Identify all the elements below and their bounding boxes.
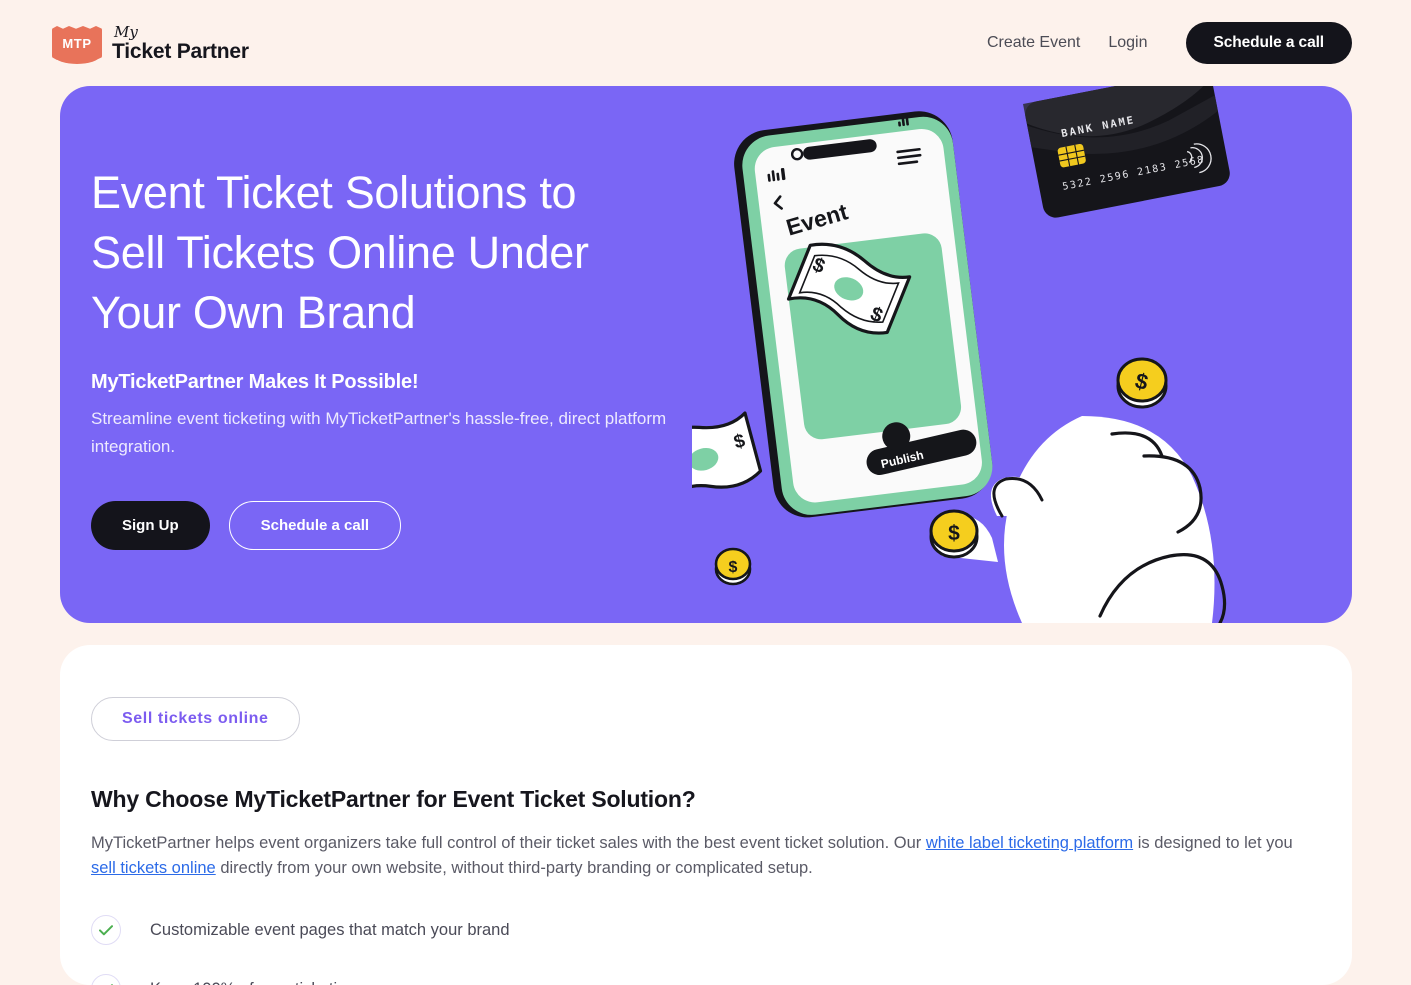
hero-body-text: Streamline event ticketing with MyTicket… [91,405,671,461]
nav-link-login[interactable]: Login [1108,34,1147,52]
section-paragraph: MyTicketPartner helps event organizers t… [91,831,1306,881]
checklist-label: Keep 100% of your ticketing revenue [150,980,420,985]
paragraph-part-2: is designed to let you [1133,834,1293,852]
coin-middle: $ [931,511,977,557]
site-header: MTP My Ticket Partner Create Event Login… [0,0,1411,86]
hero-title-line-3: Your Own Brand [91,287,415,338]
dollar-bill-left: $ [692,411,762,505]
logo-mtp-text: MTP [62,36,91,51]
brand-wordmark: My Ticket Partner [112,25,249,62]
hero-illustration-svg: BANK NAME 5322 2596 2183 2568 [692,86,1352,623]
paragraph-part-3: directly from your own website, without … [216,859,813,877]
hero-illustration: BANK NAME 5322 2596 2183 2568 [692,86,1352,623]
svg-text:$: $ [948,522,960,545]
list-item: Customizable event pages that match your… [91,915,1352,945]
hero-copy: Event Ticket Solutions to Sell Tickets O… [91,163,711,550]
check-icon [91,915,121,945]
header-schedule-call-button[interactable]: Schedule a call [1186,22,1353,64]
section-heading: Why Choose MyTicketPartner for Event Tic… [91,786,1352,813]
paragraph-part-1: MyTicketPartner helps event organizers t… [91,834,926,852]
coin-bottom-left: $ [716,549,750,584]
list-item: Keep 100% of your ticketing revenue [91,974,1352,985]
hero-schedule-call-button[interactable]: Schedule a call [229,501,401,550]
sell-tickets-online-pill[interactable]: Sell tickets online [91,697,300,741]
checklist-label: Customizable event pages that match your… [150,921,510,940]
hero-subtitle: MyTicketPartner Makes It Possible! [91,371,711,394]
brand-name-text: Ticket Partner [112,41,249,62]
ticket-swoosh [55,55,99,64]
svg-text:$: $ [729,559,738,576]
link-white-label-ticketing-platform[interactable]: white label ticketing platform [926,834,1133,852]
coin-top-right: $ [1118,359,1166,407]
brand-logo[interactable]: MTP My Ticket Partner [52,25,249,62]
brand-script-my: My [114,25,249,40]
benefits-checklist: Customizable event pages that match your… [91,915,1352,985]
hero-actions: Sign Up Schedule a call [91,501,711,550]
hero-title: Event Ticket Solutions to Sell Tickets O… [91,163,711,343]
link-sell-tickets-online[interactable]: sell tickets online [91,859,216,877]
check-icon [91,974,121,985]
hero-title-line-2: Sell Tickets Online Under [91,227,589,278]
hero-title-line-1: Event Ticket Solutions to [91,167,576,218]
hero-signup-button[interactable]: Sign Up [91,501,210,550]
main-navigation: Create Event Login Schedule a call [987,22,1352,64]
nav-link-create-event[interactable]: Create Event [987,34,1080,52]
mtp-ticket-icon: MTP [52,26,102,60]
credit-card-graphic: BANK NAME 5322 2596 2183 2568 [1023,86,1232,220]
hero-section: Event Ticket Solutions to Sell Tickets O… [60,86,1352,623]
why-choose-section: Sell tickets online Why Choose MyTicketP… [60,645,1352,985]
